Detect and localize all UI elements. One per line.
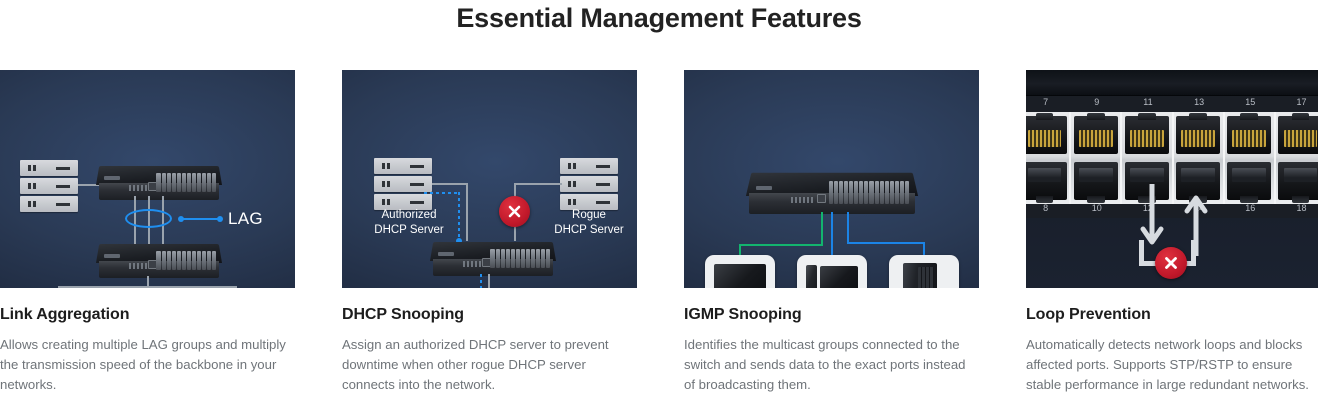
nas-device-icon xyxy=(889,255,959,288)
card-description: Allows creating multiple LAG groups and … xyxy=(0,335,295,395)
rogue-server-icon xyxy=(560,158,618,174)
authorized-server-icon xyxy=(374,158,432,174)
page-title: Essential Management Features xyxy=(0,0,1318,38)
switch-device xyxy=(430,240,556,276)
rj45-port-icon xyxy=(1026,162,1067,200)
iptv-link xyxy=(821,212,823,246)
available-link xyxy=(847,212,849,244)
rogue-server-icon xyxy=(560,176,618,192)
server-icon xyxy=(20,160,78,176)
switch-device-top xyxy=(96,164,222,200)
switch-device-bottom xyxy=(96,242,222,278)
switch-device xyxy=(746,170,918,214)
card-title: Loop Prevention xyxy=(1026,306,1318,324)
figure-igmp-diagram: IPTV Available xyxy=(684,70,979,288)
feature-card-dhcp-snooping: Authorized DHCP Server Rogue DHCP Server… xyxy=(342,70,637,395)
feature-card-loop-prevention: 7 9 11 13 15 17 8 10 xyxy=(1026,70,1318,395)
feature-card-list: LAG Link Aggregation Allows creating mul… xyxy=(0,70,1318,395)
port-label-row-bottom: 8 10 12 14 16 18 xyxy=(1026,203,1318,217)
rj45-port-icon xyxy=(1026,116,1067,154)
card-title: IGMP Snooping xyxy=(684,306,979,324)
card-title: Link Aggregation xyxy=(0,306,295,324)
port-label: 9 xyxy=(1071,97,1122,111)
lag-callout-line xyxy=(183,218,219,220)
rj45-port-pair xyxy=(1225,112,1276,204)
port-label-row-top: 7 9 11 13 15 17 xyxy=(1026,97,1318,111)
rj45-port-icon xyxy=(1227,162,1271,200)
authorized-link xyxy=(466,183,468,241)
dhcp-offer-flow xyxy=(424,192,460,194)
authorized-link xyxy=(432,183,468,185)
server-icon xyxy=(20,196,78,212)
iptv-link xyxy=(739,244,823,246)
rj45-port-icon xyxy=(1227,116,1271,154)
feature-card-igmp-snooping: IPTV Available IGMP Snooping Identifies … xyxy=(684,70,979,395)
port-label: 16 xyxy=(1225,203,1276,217)
figure-lag-diagram: LAG xyxy=(0,70,295,288)
red-x-icon xyxy=(499,196,530,227)
client-downlink xyxy=(235,286,237,288)
rj45-port-icon xyxy=(1125,116,1169,154)
port-label: 13 xyxy=(1174,97,1225,111)
rj45-port-icon xyxy=(1176,116,1220,154)
arrow-up-icon xyxy=(1183,184,1209,256)
authorized-server-label: Authorized DHCP Server xyxy=(354,208,464,238)
port-label: 8 xyxy=(1026,203,1071,217)
rj45-port-icon xyxy=(1074,162,1118,200)
pc-device-icon xyxy=(797,255,867,288)
dhcp-offer-flow xyxy=(480,274,482,288)
rj45-port-icon xyxy=(1278,116,1318,154)
card-description: Identifies the multicast groups connecte… xyxy=(684,335,979,395)
switch-port-bank: 7 9 11 13 15 17 8 10 xyxy=(1026,96,1318,218)
rj45-port-icon xyxy=(1278,162,1318,200)
rj45-port-pair xyxy=(1071,112,1122,204)
rogue-link xyxy=(514,183,562,185)
tv-device-icon xyxy=(705,255,775,288)
feature-card-link-aggregation: LAG Link Aggregation Allows creating mul… xyxy=(0,70,295,395)
port-label: 15 xyxy=(1225,97,1276,111)
port-label: 10 xyxy=(1071,203,1122,217)
card-description: Automatically detects network loops and … xyxy=(1026,335,1318,395)
port-label: 18 xyxy=(1276,203,1318,217)
client-downlink xyxy=(488,274,490,288)
port-label: 7 xyxy=(1026,97,1071,111)
client-downlink xyxy=(58,286,60,288)
server-icon xyxy=(20,178,78,194)
client-downlink xyxy=(147,286,149,288)
rj45-port-pair xyxy=(1276,112,1318,204)
card-title: DHCP Snooping xyxy=(342,306,637,324)
port-label: 17 xyxy=(1276,97,1318,111)
lag-label: LAG xyxy=(228,209,263,229)
red-x-icon xyxy=(1155,247,1187,279)
figure-dhcp-diagram: Authorized DHCP Server Rogue DHCP Server xyxy=(342,70,637,288)
switch-chassis-top xyxy=(1026,70,1318,96)
figure-loop-photo: 7 9 11 13 15 17 8 10 xyxy=(1026,70,1318,288)
rj45-port-icon xyxy=(1074,116,1118,154)
port-label: 11 xyxy=(1122,97,1173,111)
lag-group-ellipse xyxy=(125,209,172,228)
card-description: Assign an authorized DHCP server to prev… xyxy=(342,335,637,395)
rj45-port-array xyxy=(1026,112,1318,204)
available-link xyxy=(847,242,925,244)
lag-callout-dot xyxy=(217,216,223,222)
rogue-server-label: Rogue DHCP Server xyxy=(534,208,637,238)
authorized-server-icon xyxy=(374,176,432,192)
rj45-port-pair xyxy=(1026,112,1071,204)
